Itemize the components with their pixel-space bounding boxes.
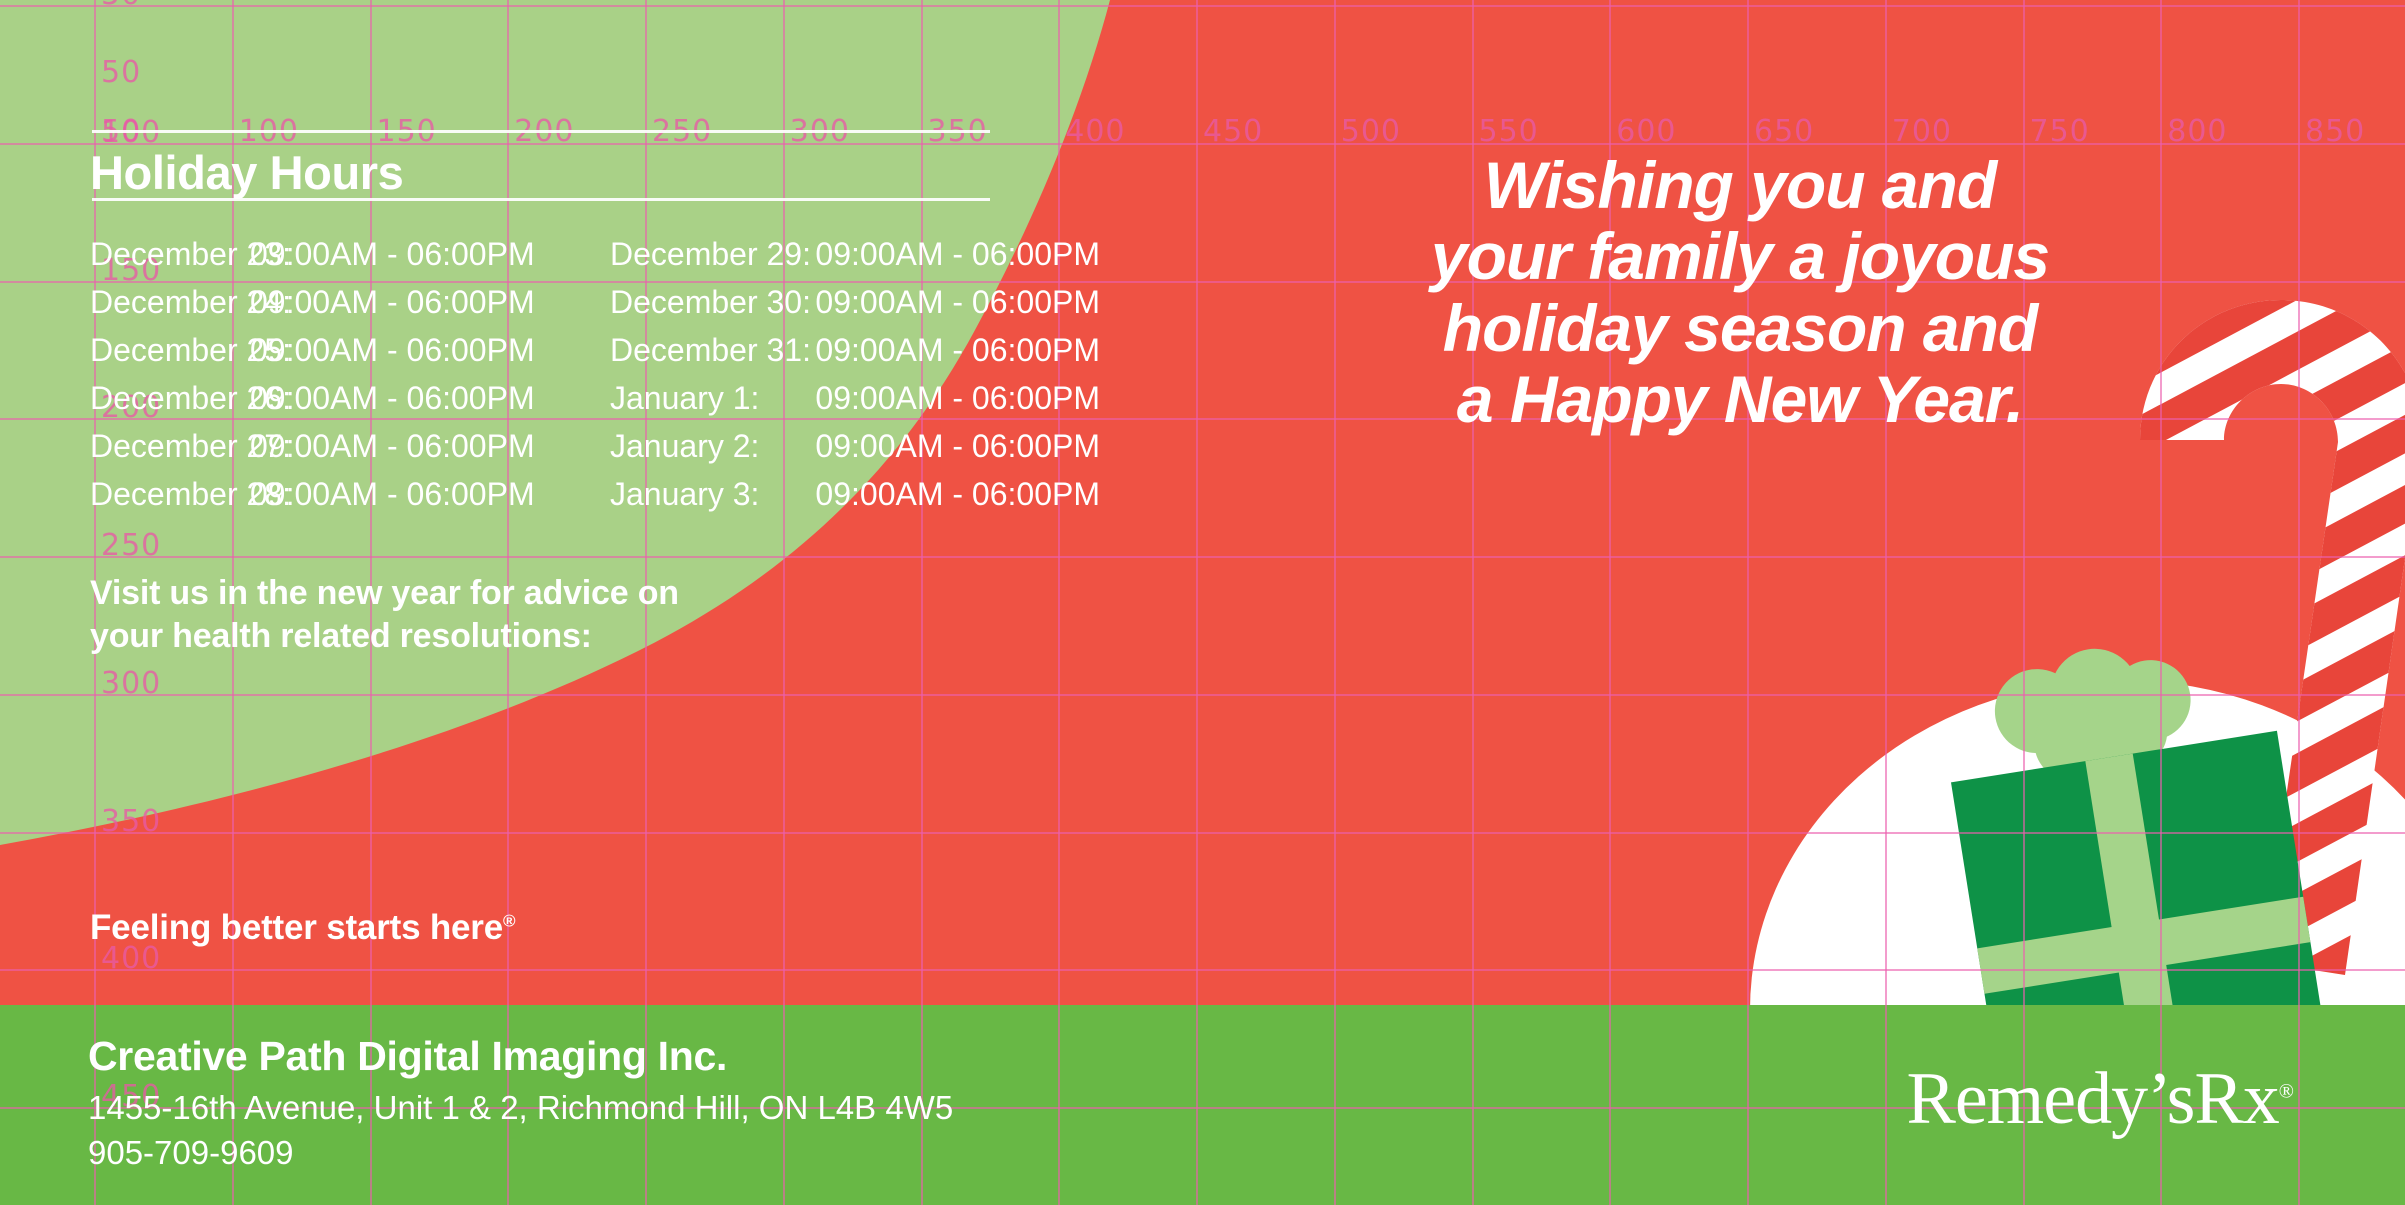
hours-date-label: December 24:	[90, 278, 250, 326]
hours-time-value: 09:00AM - 06:00PM	[815, 470, 1100, 518]
greeting-line-1: Wishing you and	[1330, 150, 2150, 221]
hours-date-label: January 1:	[610, 374, 815, 422]
hours-date-label: December 25:	[90, 326, 250, 374]
hours-time-value: 09:00AM - 06:00PM	[815, 278, 1100, 326]
hours-date-label: December 26:	[90, 374, 250, 422]
hours-time-value: 09:00AM - 06:00PM	[815, 374, 1100, 422]
hours-cell-right: December 29:09:00AM - 06:00PM	[610, 230, 1100, 278]
greeting-line-3: holiday season and	[1330, 293, 2150, 364]
brand-tagline: Feeling better starts here®	[90, 908, 515, 948]
company-name: Creative Path Digital Imaging Inc.	[88, 1033, 727, 1080]
hours-time-value: 09:00AM - 06:00PM	[815, 326, 1100, 374]
hours-row: December 27:09:00AM - 06:00PMJanuary 2:0…	[90, 422, 1100, 470]
hours-date-label: December 23:	[90, 230, 250, 278]
hours-row: December 26:09:00AM - 06:00PMJanuary 1:0…	[90, 374, 1100, 422]
hours-date-label: January 2:	[610, 422, 815, 470]
hours-date-label: December 30:	[610, 278, 815, 326]
hours-cell-right: January 3:09:00AM - 06:00PM	[610, 470, 1100, 518]
hours-time-value: 09:00AM - 06:00PM	[815, 422, 1100, 470]
holiday-greeting-banner: 5010015020025030035040045050055060065070…	[0, 0, 2405, 1205]
hours-row: December 25:09:00AM - 06:00PMDecember 31…	[90, 326, 1100, 374]
hours-cell-right: January 2:09:00AM - 06:00PM	[610, 422, 1100, 470]
hours-time-value: 09:00AM - 06:00PM	[250, 230, 535, 278]
visit-message-line-1: Visit us in the new year for advice on	[90, 572, 679, 615]
hours-time-value: 09:00AM - 06:00PM	[250, 470, 535, 518]
holiday-hours-rule-bottom	[92, 198, 990, 201]
greeting-message: Wishing you and your family a joyous hol…	[1330, 150, 2150, 435]
hours-date-label: December 27:	[90, 422, 250, 470]
company-address: 1455-16th Avenue, Unit 1 & 2, Richmond H…	[88, 1089, 953, 1127]
hours-row: December 24:09:00AM - 06:00PMDecember 30…	[90, 278, 1100, 326]
holiday-hours-table: December 23:09:00AM - 06:00PMDecember 29…	[90, 230, 1100, 518]
hours-date-label: December 29:	[610, 230, 815, 278]
remedysrx-logo: Remedy’sRx®	[1906, 1057, 2293, 1142]
hours-date-label: December 31:	[610, 326, 815, 374]
left-content-panel: Holiday Hours December 23:09:00AM - 06:0…	[0, 0, 1200, 1000]
holiday-hours-title: Holiday Hours	[90, 145, 403, 200]
hours-time-value: 09:00AM - 06:00PM	[250, 326, 535, 374]
logo-registered-mark-icon: ®	[2279, 1080, 2293, 1102]
visit-message-line-2: your health related resolutions:	[90, 615, 679, 658]
hours-cell-left: December 24:09:00AM - 06:00PM	[90, 278, 610, 326]
hours-time-value: 09:00AM - 06:00PM	[815, 230, 1100, 278]
holiday-hours-rule-top	[92, 130, 990, 133]
hours-cell-left: December 23:09:00AM - 06:00PM	[90, 230, 610, 278]
hours-time-value: 09:00AM - 06:00PM	[250, 278, 535, 326]
hours-cell-left: December 25:09:00AM - 06:00PM	[90, 326, 610, 374]
hours-time-value: 09:00AM - 06:00PM	[250, 422, 535, 470]
hours-cell-left: December 27:09:00AM - 06:00PM	[90, 422, 610, 470]
hours-row: December 23:09:00AM - 06:00PMDecember 29…	[90, 230, 1100, 278]
company-phone: 905-709-9609	[88, 1134, 294, 1172]
hours-cell-right: January 1:09:00AM - 06:00PM	[610, 374, 1100, 422]
hours-cell-right: December 31:09:00AM - 06:00PM	[610, 326, 1100, 374]
brand-tagline-text: Feeling better starts here	[90, 908, 503, 947]
visit-message: Visit us in the new year for advice on y…	[90, 572, 679, 658]
hours-time-value: 09:00AM - 06:00PM	[250, 374, 535, 422]
greeting-line-2: your family a joyous	[1330, 221, 2150, 292]
registered-mark-icon: ®	[503, 911, 515, 930]
hours-date-label: December 28:	[90, 470, 250, 518]
remedysrx-logo-text: Remedy’sRx	[1906, 1058, 2278, 1140]
footer-bar: Creative Path Digital Imaging Inc. 1455-…	[0, 1005, 2405, 1205]
hours-cell-left: December 28:09:00AM - 06:00PM	[90, 470, 610, 518]
hours-row: December 28:09:00AM - 06:00PMJanuary 3:0…	[90, 470, 1100, 518]
greeting-line-4: a Happy New Year.	[1330, 364, 2150, 435]
hours-cell-right: December 30:09:00AM - 06:00PM	[610, 278, 1100, 326]
hours-date-label: January 3:	[610, 470, 815, 518]
hours-cell-left: December 26:09:00AM - 06:00PM	[90, 374, 610, 422]
